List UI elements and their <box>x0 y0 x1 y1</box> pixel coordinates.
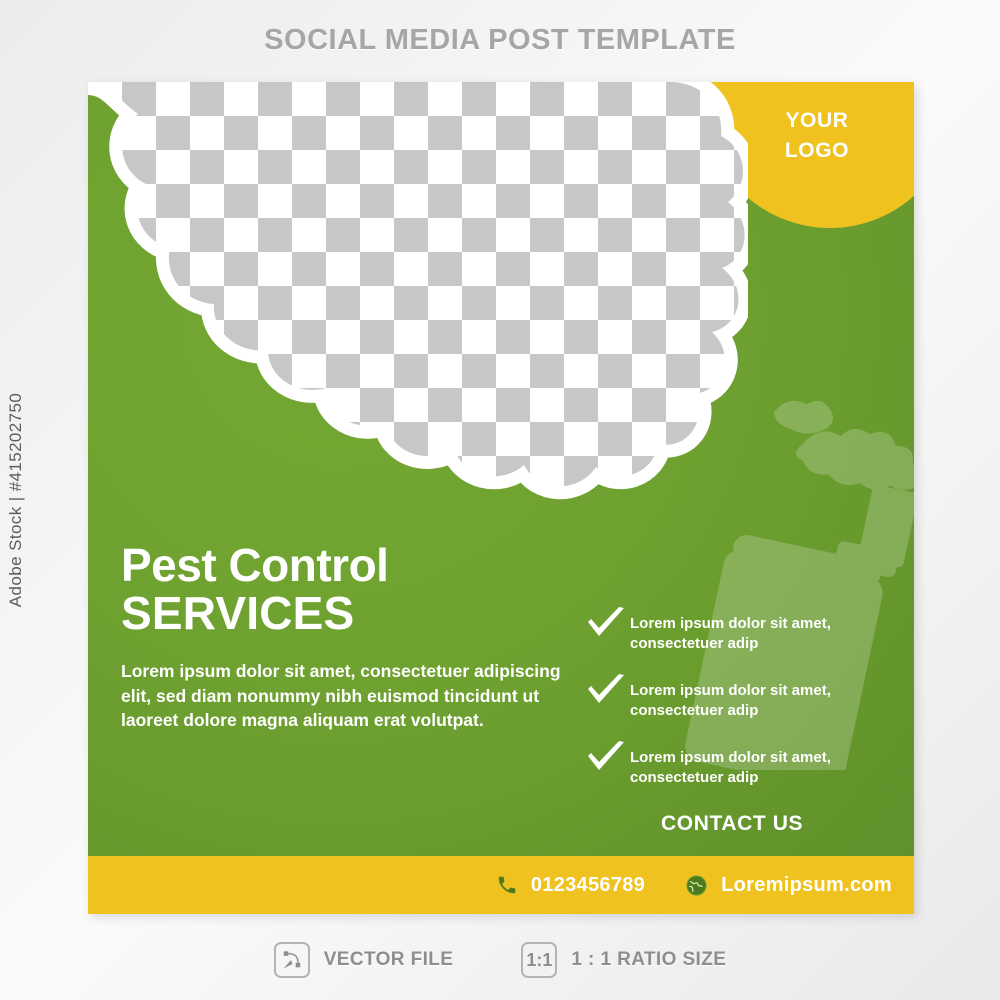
list-item: Lorem ipsum dolor sit amet, consectetuer… <box>586 610 886 653</box>
meta-ratio-label: 1 : 1 RATIO SIZE <box>571 949 726 971</box>
logo-placeholder-text: YOUR LOGO <box>742 106 892 167</box>
website-contact[interactable]: Loremipsum.com <box>685 874 892 897</box>
globe-icon <box>685 874 708 897</box>
headline-line-2: SERVICES <box>121 589 591 638</box>
body-copy: Lorem ipsum dolor sit amet, consectetuer… <box>121 659 569 734</box>
list-item-label: Lorem ipsum dolor sit amet, consectetuer… <box>630 744 886 787</box>
check-icon <box>586 740 630 779</box>
meta-ratio: 1:1 1 : 1 RATIO SIZE <box>521 942 726 978</box>
list-item-label: Lorem ipsum dolor sit amet, consectetuer… <box>630 610 886 653</box>
contact-us-heading: CONTACT US <box>661 812 803 836</box>
social-post-card: YOUR LOGO <box>88 82 914 914</box>
check-icon <box>586 673 630 712</box>
logo-line-1: YOUR <box>742 106 892 136</box>
website-label: Loremipsum.com <box>721 874 892 897</box>
list-item-label: Lorem ipsum dolor sit amet, consectetuer… <box>630 677 886 720</box>
file-meta-strip: VECTOR FILE 1:1 1 : 1 RATIO SIZE <box>0 936 1000 984</box>
check-icon <box>586 606 630 645</box>
ratio-icon: 1:1 <box>521 942 557 978</box>
feature-list: Lorem ipsum dolor sit amet, consectetuer… <box>586 610 886 811</box>
logo-line-2: LOGO <box>742 136 892 166</box>
meta-vector-file-label: VECTOR FILE <box>324 949 454 971</box>
meta-vector-file: VECTOR FILE <box>274 942 454 978</box>
vector-node-icon <box>274 942 310 978</box>
phone-icon <box>496 874 518 896</box>
headline-line-1: Pest Control <box>121 542 591 589</box>
list-item: Lorem ipsum dolor sit amet, consectetuer… <box>586 677 886 720</box>
cloud-image-placeholder[interactable] <box>88 82 748 512</box>
contact-footer-bar: 0123456789 Loremipsum.com <box>88 856 914 914</box>
phone-contact[interactable]: 0123456789 <box>496 874 645 897</box>
page-title: SOCIAL MEDIA POST TEMPLATE <box>0 24 1000 57</box>
list-item: Lorem ipsum dolor sit amet, consectetuer… <box>586 744 886 787</box>
phone-label: 0123456789 <box>531 874 645 897</box>
stock-id-watermark: Adobe Stock | #415202750 <box>6 393 26 607</box>
headline-block: Pest Control SERVICES Lorem ipsum dolor … <box>121 542 591 733</box>
